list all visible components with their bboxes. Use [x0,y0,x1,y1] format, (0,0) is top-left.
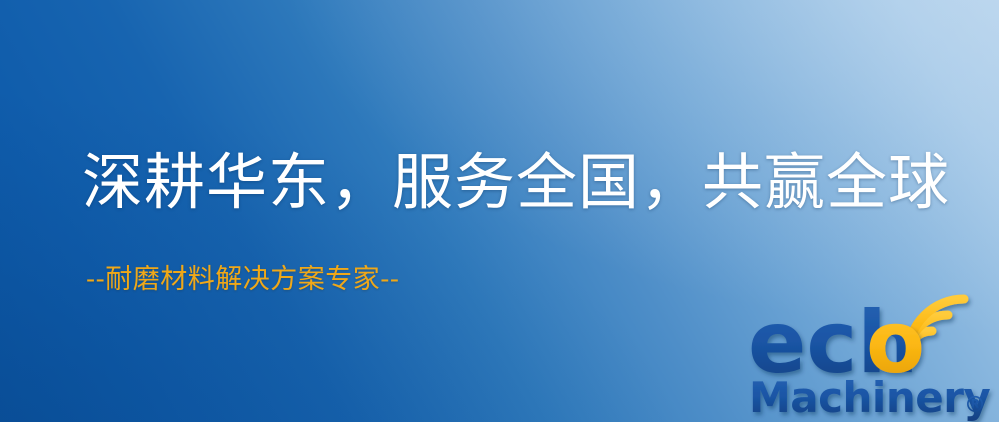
hero-banner: 深耕华东，服务全国，共赢全球 --耐磨材料解决方案专家-- [0,0,999,422]
page-subtitle: --耐磨材料解决方案专家-- [86,266,400,293]
page-title: 深耕华东，服务全国，共赢全球 [82,152,950,213]
logo-wordmark-machinery: Machinery [749,373,990,422]
echo-machinery-logo: ech o Machinery ® [748,292,999,422]
logo-registered-mark: ® [964,393,986,418]
